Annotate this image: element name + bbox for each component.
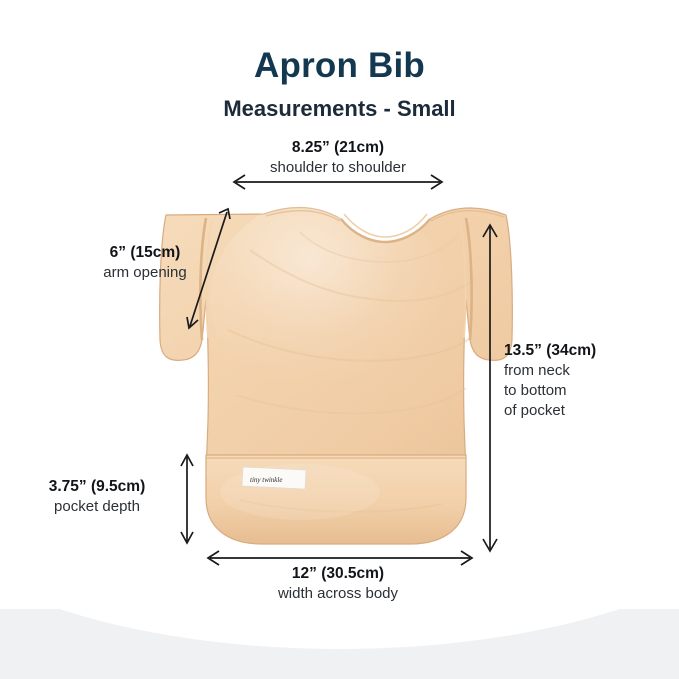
measurement-desc-pocket-depth: pocket depth <box>18 497 176 517</box>
measurement-label-body-width: 12” (30.5cm) width across body <box>193 564 483 604</box>
bib-body <box>160 195 513 482</box>
measurement-value-pocket-depth: 3.75” (9.5cm) <box>18 477 176 497</box>
measurement-label-arm-opening: 6” (15cm) arm opening <box>60 243 230 283</box>
measurement-desc-neck-to-pocket-line1: from neck <box>504 361 674 381</box>
arrow-body-width <box>208 551 472 565</box>
measurement-value-arm-opening: 6” (15cm) <box>60 243 230 263</box>
measurement-desc-arm-opening: arm opening <box>60 263 230 283</box>
page-title: Apron Bib <box>0 46 679 86</box>
measurement-label-shoulder: 8.25” (21cm) shoulder to shoulder <box>193 138 483 178</box>
measurement-value-shoulder: 8.25” (21cm) <box>193 138 483 158</box>
measurement-value-neck-to-pocket: 13.5” (34cm) <box>504 341 674 361</box>
measurement-desc-neck-to-pocket-line2: to bottom <box>504 381 674 401</box>
measurement-value-body-width: 12” (30.5cm) <box>193 564 483 584</box>
measurement-desc-neck-to-pocket-line3: of pocket <box>504 401 674 421</box>
measurement-desc-body-width: width across body <box>193 584 483 604</box>
page-subtitle: Measurements - Small <box>0 96 679 122</box>
arrow-pocket-depth <box>181 455 193 543</box>
measurement-label-neck-to-pocket: 13.5” (34cm) from neck to bottom of pock… <box>504 341 674 421</box>
measurement-label-pocket-depth: 3.75” (9.5cm) pocket depth <box>18 477 176 517</box>
measurement-desc-shoulder: shoulder to shoulder <box>193 158 483 178</box>
brand-tag: tiny twinkle <box>242 467 306 489</box>
brand-tag-text: tiny twinkle <box>250 476 282 484</box>
product-measurement-diagram: tiny twinkle <box>0 0 679 679</box>
